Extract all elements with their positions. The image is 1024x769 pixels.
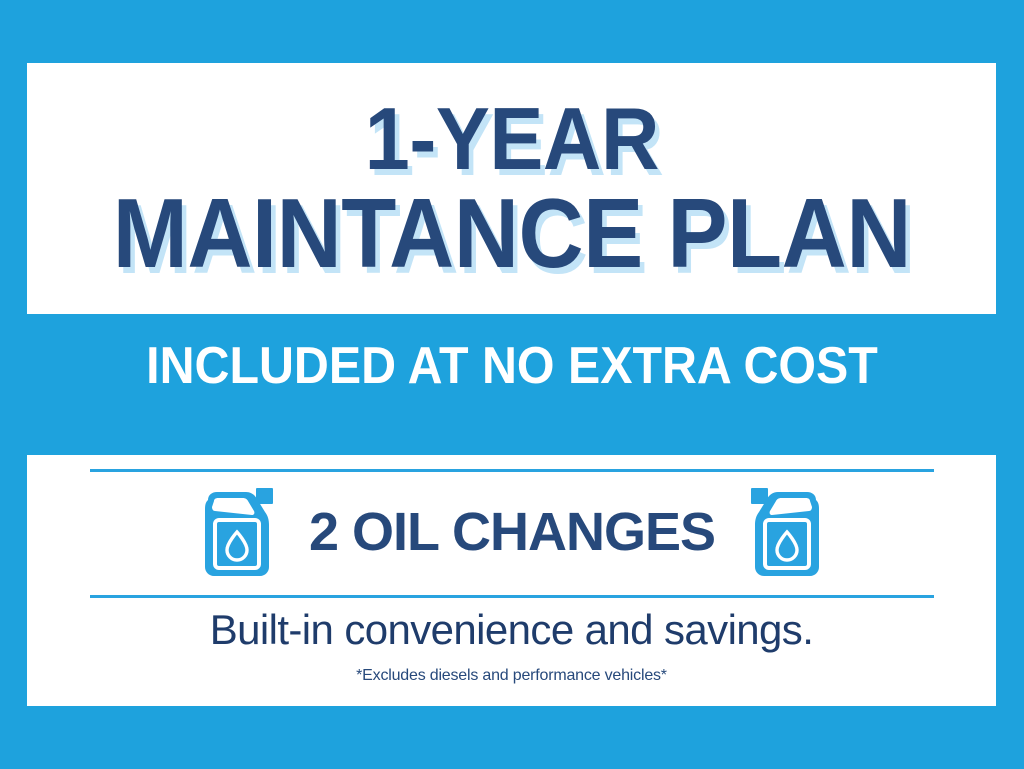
fineprint-text: *Excludes diesels and performance vehicl… <box>27 667 996 685</box>
divider-bottom <box>90 595 934 598</box>
offer-row: 2 OIL CHANGES <box>90 477 934 587</box>
headline-card: 1-YEAR MAINTANCE PLAN <box>27 63 996 314</box>
tagline-text: Built-in convenience and savings. <box>27 607 996 653</box>
headline-line-1: 1-YEAR <box>364 97 658 181</box>
details-card: 2 OIL CHANGES Built-in convenience and s… <box>27 455 996 706</box>
promo-poster: 1-YEAR MAINTANCE PLAN INCLUDED AT NO EXT… <box>0 0 1024 769</box>
divider-top <box>90 469 934 472</box>
oil-jug-icon <box>749 487 825 577</box>
headline-line-2: MAINTANCE PLAN <box>112 187 910 280</box>
headline-block: 1-YEAR MAINTANCE PLAN <box>27 63 996 314</box>
subtitle-text: INCLUDED AT NO EXTRA COST <box>36 338 988 395</box>
oil-jug-icon <box>199 487 275 577</box>
offer-label: 2 OIL CHANGES <box>309 505 715 559</box>
